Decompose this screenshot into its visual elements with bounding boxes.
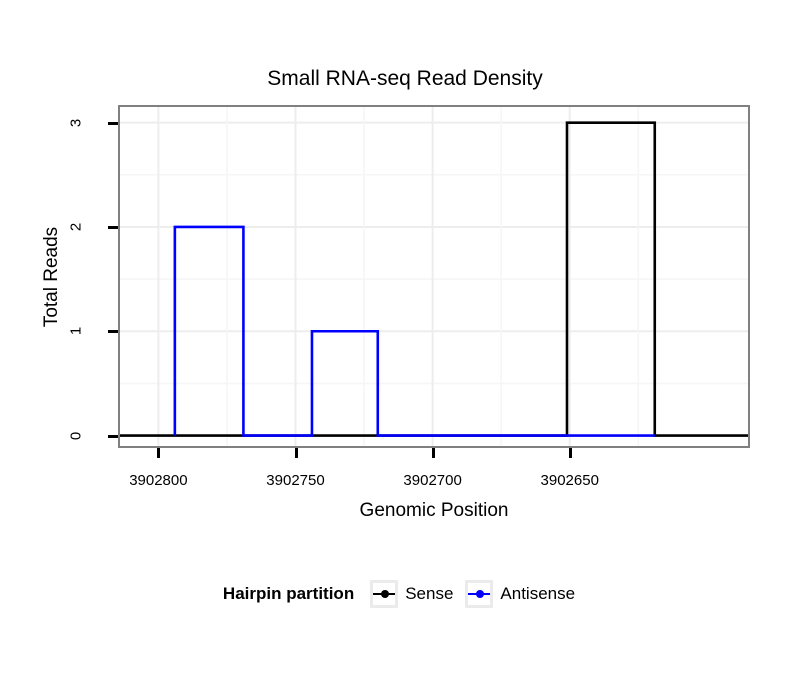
y-axis-tick-label: 1 bbox=[62, 321, 90, 341]
y-axis-tick-mark bbox=[108, 226, 118, 229]
legend-title: Hairpin partition bbox=[223, 584, 354, 604]
y-axis-tick-mark bbox=[108, 435, 118, 438]
y-axis-tick-label-text: 0 bbox=[68, 431, 85, 439]
page-title: Small RNA-seq Read Density bbox=[0, 66, 810, 92]
y-axis-tick-label-text: 2 bbox=[68, 223, 85, 231]
x-axis-tick-label: 3902650 bbox=[510, 472, 630, 490]
legend-items: SenseAntisense bbox=[370, 580, 587, 608]
plot-svg bbox=[120, 107, 748, 446]
x-axis-tick-mark bbox=[569, 448, 572, 458]
legend-key-box bbox=[465, 580, 493, 608]
legend-key-box bbox=[370, 580, 398, 608]
y-axis-tick-label: 2 bbox=[62, 217, 90, 237]
y-axis-tick-label-text: 3 bbox=[68, 118, 85, 126]
x-axis-tick-label: 3902700 bbox=[373, 472, 493, 490]
y-axis-title-label: Total Reads bbox=[41, 226, 63, 326]
plot-panel bbox=[118, 105, 750, 448]
x-axis-title: Genomic Position bbox=[118, 499, 750, 522]
x-axis-tick-mark bbox=[157, 448, 160, 458]
legend: Hairpin partition SenseAntisense bbox=[0, 580, 810, 608]
legend-item-sense[interactable]: Sense bbox=[370, 580, 453, 608]
legend-item-label: Sense bbox=[405, 584, 453, 604]
x-axis-tick-mark bbox=[432, 448, 435, 458]
y-axis-tick-label: 0 bbox=[62, 426, 90, 446]
x-axis-tick-label: 3902800 bbox=[98, 472, 218, 490]
y-axis-title: Total Reads bbox=[40, 105, 64, 448]
y-axis-tick-mark bbox=[108, 122, 118, 125]
y-axis-tick-label-text: 1 bbox=[68, 327, 85, 335]
plot-area bbox=[120, 107, 748, 446]
legend-item-antisense[interactable]: Antisense bbox=[465, 580, 575, 608]
x-axis-tick-label: 3902750 bbox=[236, 472, 356, 490]
legend-item-label: Antisense bbox=[500, 584, 575, 604]
y-axis-tick-mark bbox=[108, 330, 118, 333]
chart-root: Small RNA-seq Read Density Total Reads 0… bbox=[0, 0, 810, 690]
x-axis-tick-mark bbox=[295, 448, 298, 458]
y-axis-tick-label: 3 bbox=[62, 113, 90, 133]
